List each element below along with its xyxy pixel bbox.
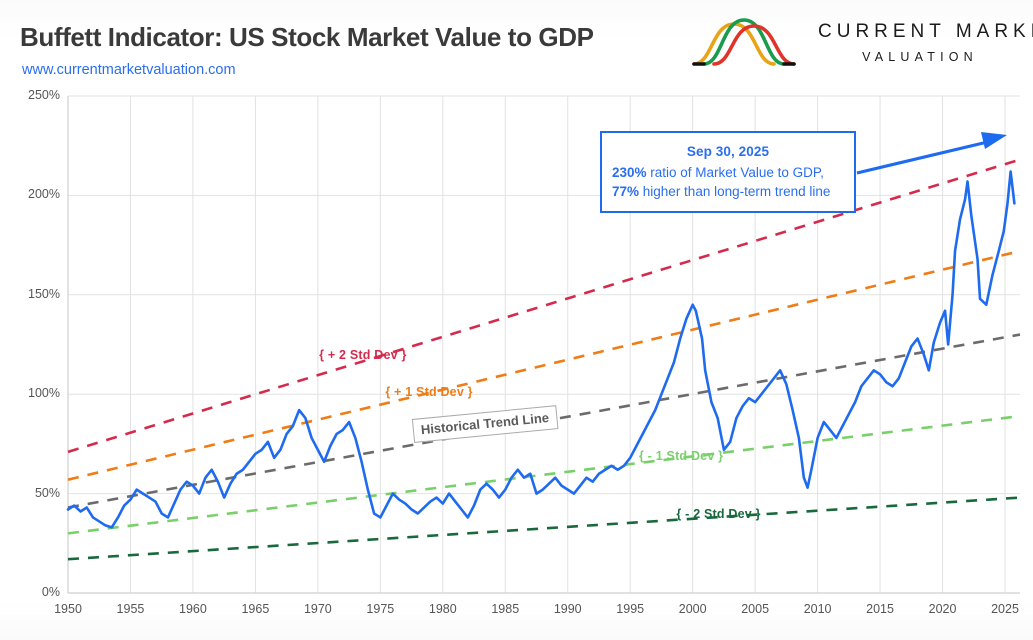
band-label-plus-2-std-dev: { + 2 Std Dev } <box>319 348 406 362</box>
x-tick-label: 1975 <box>350 602 410 616</box>
y-tick-label: 150% <box>8 287 60 301</box>
logo-bellcurves-icon <box>690 14 805 70</box>
x-tick-label: 1950 <box>38 602 98 616</box>
callout-annotation-box: Sep 30, 2025 230% ratio of Market Value … <box>600 131 856 213</box>
annotation-date: Sep 30, 2025 <box>612 142 844 161</box>
axis-lines <box>68 96 1020 593</box>
annotation-ratio-text: ratio of Market Value to GDP, <box>647 165 824 180</box>
header: Buffett Indicator: US Stock Market Value… <box>0 0 1033 90</box>
x-tick-label: 2020 <box>913 602 973 616</box>
annotation-ratio-value: 230% <box>612 165 647 180</box>
x-tick-label: 2005 <box>725 602 785 616</box>
gridlines <box>68 96 1020 593</box>
y-tick-label: 50% <box>8 486 60 500</box>
brand-logo: CURRENT MARKET VALUATION <box>690 10 1025 76</box>
y-tick-label: 200% <box>8 187 60 201</box>
site-url-link[interactable]: www.currentmarketvaluation.com <box>22 62 236 78</box>
x-tick-label: 1985 <box>475 602 535 616</box>
chart-svg <box>0 88 1033 640</box>
x-tick-label: 1970 <box>288 602 348 616</box>
x-tick-label: 2025 <box>975 602 1033 616</box>
logo-wordmark: CURRENT MARKET VALUATION <box>818 22 1018 64</box>
logo-line-valuation: VALUATION <box>818 50 1018 64</box>
annotation-line-1: 230% ratio of Market Value to GDP, <box>612 163 844 182</box>
annotation-premium-text: higher than long-term trend line <box>639 184 830 199</box>
x-tick-label: 2000 <box>663 602 723 616</box>
logo-line-current-market: CURRENT MARKET <box>818 22 1018 41</box>
annotation-premium-value: 77% <box>612 184 639 199</box>
market-value-to-gdp-line <box>68 172 1014 528</box>
annotation-line-2: 77% higher than long-term trend line <box>612 182 844 201</box>
y-tick-label: 100% <box>8 386 60 400</box>
x-tick-label: 2010 <box>788 602 848 616</box>
x-tick-label: 1960 <box>163 602 223 616</box>
y-tick-label: 0% <box>8 585 60 599</box>
x-tick-label: 1980 <box>413 602 473 616</box>
band-label-minus-1-std-dev: { - 1 Std Dev } <box>639 449 723 463</box>
y-tick-label: 250% <box>8 88 60 102</box>
chart-plot-area: 0%50%100%150%200%250% 195019551960196519… <box>0 88 1033 640</box>
band-label-plus-1-std-dev: { + 1 Std Dev } <box>385 385 472 399</box>
x-tick-label: 1965 <box>225 602 285 616</box>
std-dev-band-lines <box>68 160 1020 560</box>
page-title: Buffett Indicator: US Stock Market Value… <box>20 22 594 53</box>
x-tick-label: 1955 <box>100 602 160 616</box>
chart-page: Buffett Indicator: US Stock Market Value… <box>0 0 1033 640</box>
annotation-arrow <box>857 132 1007 173</box>
x-tick-label: 2015 <box>850 602 910 616</box>
band-label-minus-2-std-dev: { - 2 Std Dev } <box>676 507 760 521</box>
x-tick-label: 1990 <box>538 602 598 616</box>
x-tick-label: 1995 <box>600 602 660 616</box>
